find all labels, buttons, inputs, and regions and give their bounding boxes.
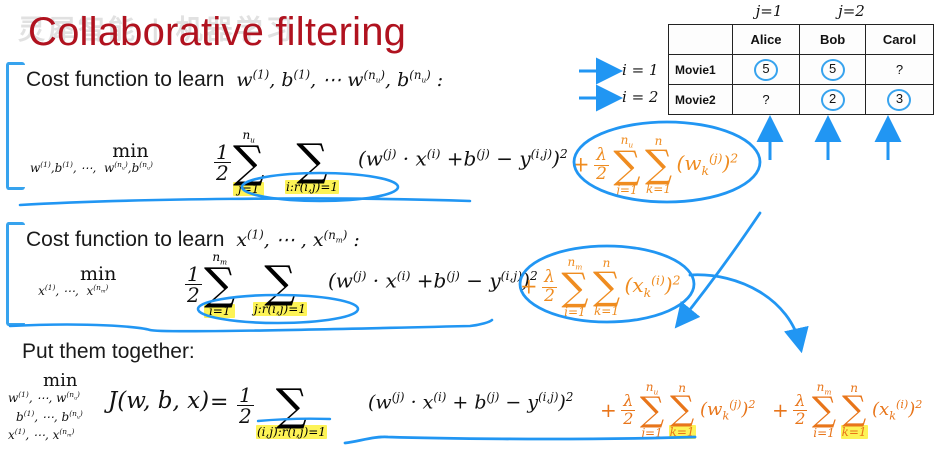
section-1-underline xyxy=(20,198,470,205)
reg-sum-1: nm ∑ i=1 xyxy=(561,255,588,319)
together-min-line-2: x(1), ⋯, x(nm) xyxy=(8,426,83,445)
section-2-half: 1 2 xyxy=(185,264,202,306)
circled-rating: 3 xyxy=(887,89,911,111)
reg-sum-1: nu ∑ j=1 xyxy=(640,380,664,440)
together-half: 1 2 xyxy=(237,385,254,427)
cell-movie1-bob: 5 xyxy=(800,55,866,85)
together-body: (w(j) · x(i) + b(j) − y(i,j))2 xyxy=(368,392,573,412)
annotation-arrow-down-left xyxy=(680,213,760,322)
row-label-movie1: Movie1 xyxy=(669,55,733,85)
together-heading: Put them together: xyxy=(22,340,195,364)
reg-term-x: (xk(i))2 xyxy=(625,273,681,297)
annotation-arrow-sweep xyxy=(690,275,800,345)
reg-term-w: (wk(j))2 xyxy=(677,151,739,175)
section-1-heading-prefix: Cost function to learn xyxy=(26,68,224,91)
reg-plus-sign: + xyxy=(520,275,538,299)
slide-canvas: 灵犀智能 | 机器学习 Collaborative filtering Cost… xyxy=(0,0,934,462)
section-1-half: 1 2 xyxy=(214,142,231,184)
table-corner-cell xyxy=(669,25,733,55)
section-2-heading: Cost function to learn x(1), ⋯ , x(nm) : xyxy=(26,228,360,252)
row-label-movie2: Movie2 xyxy=(669,85,733,115)
reg-plus-sign: + xyxy=(600,398,617,422)
table-row: Movie2 ? 2 3 xyxy=(669,85,934,115)
table-header-row: Alice Bob Carol xyxy=(669,25,934,55)
row-index-label-1: i = 1 xyxy=(622,63,658,78)
section-2-sum-2: ∑ j:r(i,j)=1 xyxy=(253,250,307,316)
together-min-line-0: w(1), ⋯, w(nu) xyxy=(8,389,83,408)
reg-sum-2: n ∑ k=1 xyxy=(669,381,696,439)
reg-sum-1: nm ∑ i=1 xyxy=(812,380,836,440)
section-1-sum-2: ∑ i:r(i,j)=1 xyxy=(285,128,339,194)
section-bracket-2 xyxy=(6,222,25,326)
together-min-line-1: b(1), ⋯, b(nu) xyxy=(16,408,83,427)
reg-lambda-over-2: λ 2 xyxy=(793,393,807,427)
table-header-alice: Alice xyxy=(732,25,799,55)
reg-term-x: (xk(i))2 xyxy=(872,399,922,420)
section-2-heading-prefix: Cost function to learn xyxy=(26,228,224,251)
column-index-label: j=1 xyxy=(730,2,808,20)
together-regularization-x: + λ 2 nm ∑ i=1 n ∑ k=1 (xk(i))2 xyxy=(772,380,922,440)
cell-movie2-bob: 2 xyxy=(800,85,866,115)
reg-term-w: (wk(j))2 xyxy=(700,399,756,420)
table-header-bob: Bob xyxy=(800,25,866,55)
reg-plus-sign: + xyxy=(572,153,590,177)
section-2-heading-vars: x(1), ⋯ , x(nm) : xyxy=(236,229,359,251)
reg-lambda-over-2: λ 2 xyxy=(542,269,557,305)
section-2-min: min x(1), ⋯, x(nm) xyxy=(30,265,116,297)
section-2-sum-1: nm ∑ i=1 xyxy=(204,250,235,318)
page-title: Collaborative filtering xyxy=(28,10,406,55)
section-1-body: (w(j) · x(i) +b(j) − y(i,j))2 xyxy=(358,148,568,169)
cell-movie2-alice: ? xyxy=(732,85,799,115)
section-1-regularization: + λ 2 nu ∑ j=1 n ∑ k=1 (wk(j))2 xyxy=(572,133,738,197)
section-1-heading-vars: w(1), b(1), ⋯ w(nu), b(nu) : xyxy=(236,69,443,91)
section-2-regularization: + λ 2 nm ∑ i=1 n ∑ k=1 (xk(i))2 xyxy=(520,255,680,319)
section-1-min: min w(1),b(1), ⋯, w(nu),b(nu) xyxy=(30,142,153,174)
row-index-label-2: i = 2 xyxy=(622,90,658,105)
together-regularization-w: + λ 2 nu ∑ j=1 n ∑ k=1 (wk(j))2 xyxy=(600,380,756,440)
cell-movie2-carol: 3 xyxy=(865,85,933,115)
circled-rating: 5 xyxy=(754,59,778,81)
cell-movie1-alice: 5 xyxy=(732,55,799,85)
circled-rating: 5 xyxy=(821,59,845,81)
reg-sum-2: n ∑ k=1 xyxy=(841,381,868,439)
section-2-body: (w(j) · x(i) +b(j) − y(i,j))2 xyxy=(328,270,538,291)
cell-movie1-carol: ? xyxy=(865,55,933,85)
together-equals: = xyxy=(210,392,228,414)
table-header-carol: Carol xyxy=(865,25,933,55)
reg-sum-2: n ∑ k=1 xyxy=(593,256,620,318)
reg-sum-1: nu ∑ j=1 xyxy=(613,133,640,197)
column-index-label: j=2 xyxy=(812,2,890,20)
reg-lambda-over-2: λ 2 xyxy=(594,147,609,183)
together-sum: ∑ (i,j):r(i,j)=1 xyxy=(256,373,327,439)
section-bracket-1 xyxy=(6,62,25,190)
together-objective: J(w, b, x) xyxy=(108,390,209,413)
reg-lambda-over-2: λ 2 xyxy=(621,393,635,427)
section-1-sum-1: nu ∑ j=1 xyxy=(233,128,264,196)
section-2-underline xyxy=(10,320,492,331)
together-min: min w(1), ⋯, w(nu) b(1), ⋯, b(nu) x(1), … xyxy=(8,372,83,445)
circled-rating: 2 xyxy=(821,89,845,111)
section-1-heading: Cost function to learn w(1), b(1), ⋯ w(n… xyxy=(26,68,443,92)
reg-sum-2: n ∑ k=1 xyxy=(645,134,672,196)
sum-lower-limit: i:r(i,j)=1 xyxy=(285,180,339,194)
together-min-label: min xyxy=(43,372,83,389)
table-row: Movie1 5 5 ? xyxy=(669,55,934,85)
ratings-table: Alice Bob Carol Movie1 5 5 ? Movie2 ? 2 … xyxy=(668,24,934,115)
reg-plus-sign: + xyxy=(772,398,789,422)
